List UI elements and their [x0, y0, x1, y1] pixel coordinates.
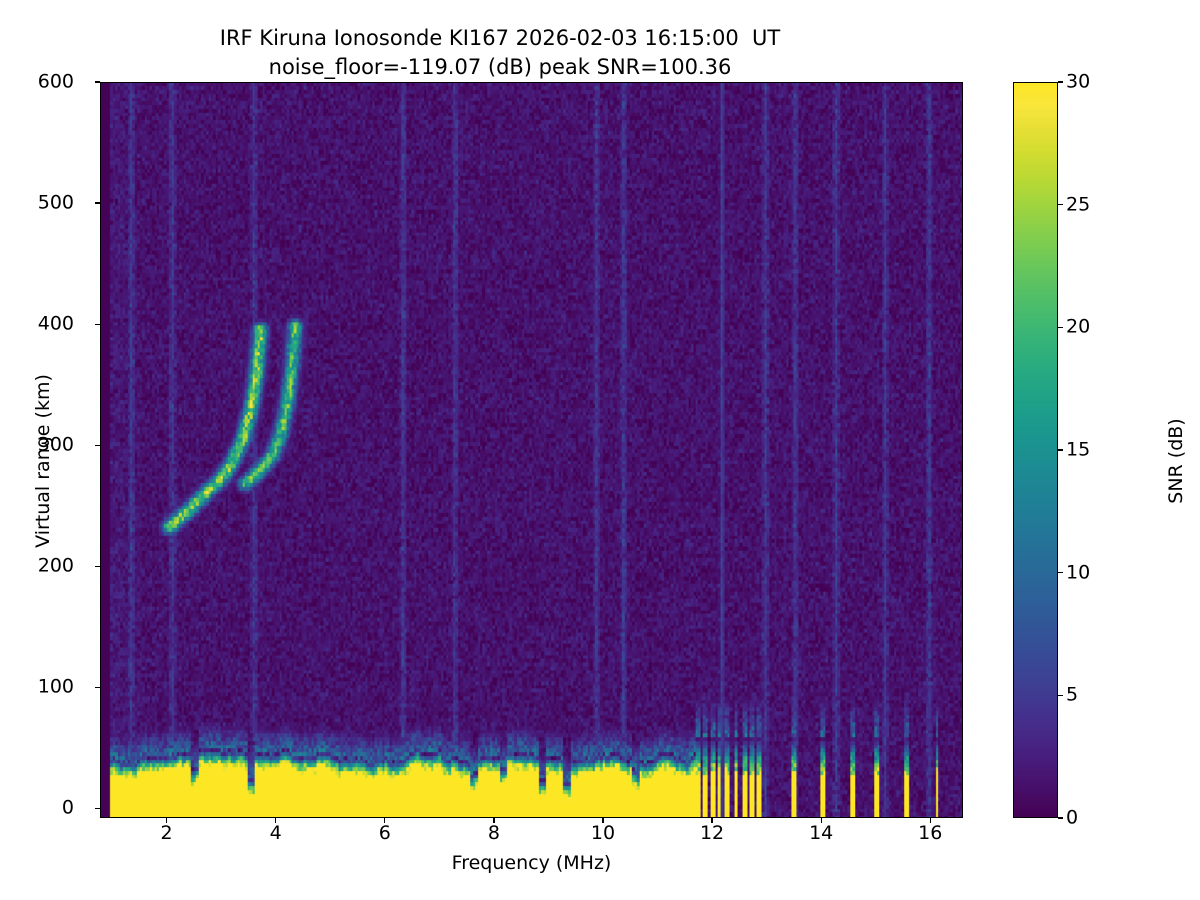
colorbar-tick [1058, 695, 1063, 696]
y-tick-label: 400 [38, 315, 74, 334]
y-axis-label: Virtual range (km) [32, 336, 54, 586]
x-tick-label: 10 [591, 824, 615, 843]
figure-title-line1: IRF Kiruna Ionosonde KI167 2026-02-03 16… [0, 23, 1000, 53]
y-tick [95, 81, 100, 82]
x-tick-label: 16 [918, 824, 942, 843]
y-tick [95, 566, 100, 567]
y-tick [95, 202, 100, 203]
y-tick-label: 0 [62, 799, 74, 818]
x-axis-label: Frequency (MHz) [100, 852, 963, 874]
x-tick-label: 12 [700, 824, 724, 843]
colorbar-tick [1058, 449, 1063, 450]
x-tick-label: 14 [809, 824, 833, 843]
y-tick-label: 500 [38, 194, 74, 213]
colorbar-tick [1058, 817, 1063, 818]
colorbar-tick-label: 0 [1066, 809, 1078, 828]
y-tick [95, 808, 100, 809]
y-tick [95, 687, 100, 688]
colorbar-tick-label: 10 [1066, 563, 1090, 582]
ionogram-heatmap [100, 82, 963, 818]
x-tick-label: 4 [270, 824, 282, 843]
colorbar-tick-label: 30 [1066, 73, 1090, 92]
y-tick-label: 100 [38, 678, 74, 697]
figure-canvas: IRF Kiruna Ionosonde KI167 2026-02-03 16… [0, 0, 1200, 900]
colorbar-tick [1058, 204, 1063, 205]
figure-title-line2: noise_floor=-119.07 (dB) peak SNR=100.36 [0, 52, 1000, 82]
x-tick-label: 2 [161, 824, 173, 843]
y-axis-ticks [95, 0, 101, 900]
colorbar-label: SNR (dB) [1165, 331, 1187, 591]
y-tick-label: 600 [38, 73, 74, 92]
colorbar-tick [1058, 572, 1063, 573]
colorbar-tick [1058, 327, 1063, 328]
y-tick [95, 324, 100, 325]
colorbar-ticks [1058, 0, 1065, 900]
colorbar-tick-label: 25 [1066, 195, 1090, 214]
x-tick-label: 8 [488, 824, 500, 843]
y-tick [95, 445, 100, 446]
colorbar-tick-label: 5 [1066, 686, 1078, 705]
colorbar-tick [1058, 81, 1063, 82]
colorbar-tick-label: 20 [1066, 318, 1090, 337]
x-tick-label: 6 [379, 824, 391, 843]
colorbar-tick-labels: 051015202530 [1066, 0, 1136, 900]
colorbar-tick-label: 15 [1066, 441, 1090, 460]
colorbar [1013, 82, 1058, 818]
